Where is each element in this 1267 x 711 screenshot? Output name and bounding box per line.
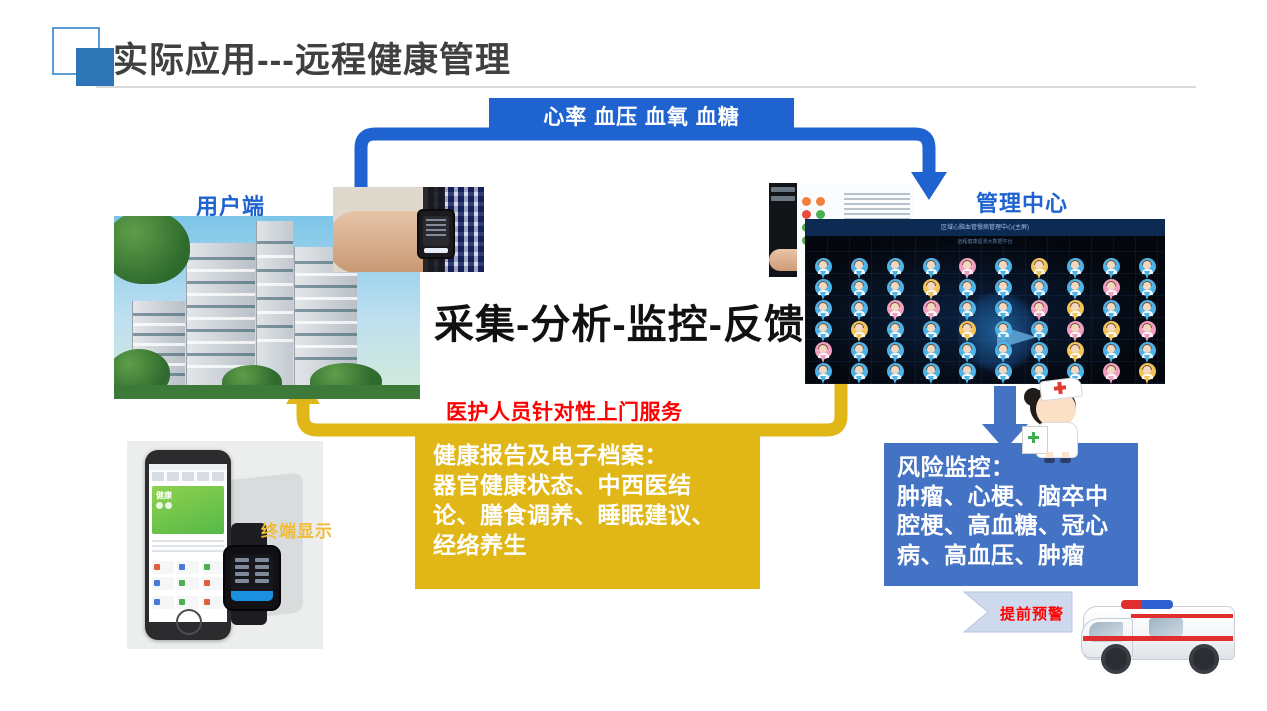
title-divider	[96, 86, 1196, 88]
metrics-banner: 心率 血压 血氧 血糖	[489, 98, 794, 134]
slide-canvas: 实际应用---远程健康管理 心率 血压 血氧 血糖 用户端	[0, 0, 1267, 711]
risk-line-3: 腔梗、高血糖、冠心	[897, 511, 1128, 540]
nurse-cartoon-illustration	[1016, 374, 1098, 462]
service-note: 医护人员针对性上门服务	[446, 396, 683, 426]
wrist-smartwatch-photo	[333, 187, 484, 272]
metrics-banner-label: 心率 血压 血氧 血糖	[543, 101, 740, 131]
dashboard-window-subtitle: 远程健康监测大数据平台	[957, 238, 1012, 245]
patient-pin-grid	[805, 258, 1165, 380]
square-filled-icon	[76, 48, 114, 86]
label-management-center: 管理中心	[976, 186, 1068, 218]
health-report-line-1: 健康报告及电子档案：	[433, 441, 746, 471]
label-terminal-display: 终端显示	[261, 517, 333, 542]
health-report-line-2: 器官健康状态、中西医结	[433, 471, 746, 501]
phone-and-smartwatch-photo: 健康	[127, 441, 323, 649]
health-report-line-3: 论、膳食调养、睡眠建议、	[433, 501, 746, 531]
dashboard-window-title: 区域心脑血管慢病管理中心(主屏)	[941, 222, 1029, 231]
health-report-line-4: 经络养生	[433, 531, 746, 561]
risk-line-4: 病、高血压、肿瘤	[897, 541, 1128, 570]
page-title: 实际应用---远程健康管理	[113, 32, 511, 83]
risk-line-2: 肿瘤、心梗、脑卒中	[897, 482, 1128, 511]
label-early-warning: 提前预警	[1000, 603, 1064, 624]
risk-monitoring-box: 风险监控： 肿瘤、心梗、脑卒中 腔梗、高血糖、冠心 病、高血压、肿瘤	[884, 443, 1138, 586]
ambulance-photo	[1073, 588, 1250, 688]
management-center-dashboard: 区域心脑血管慢病管理中心(主屏) 远程健康监测大数据平台	[805, 219, 1165, 384]
center-headline: 采集-分析-监控-反馈	[434, 292, 805, 350]
health-report-box: 健康报告及电子档案： 器官健康状态、中西医结 论、膳食调养、睡眠建议、 经络养生	[415, 428, 760, 589]
